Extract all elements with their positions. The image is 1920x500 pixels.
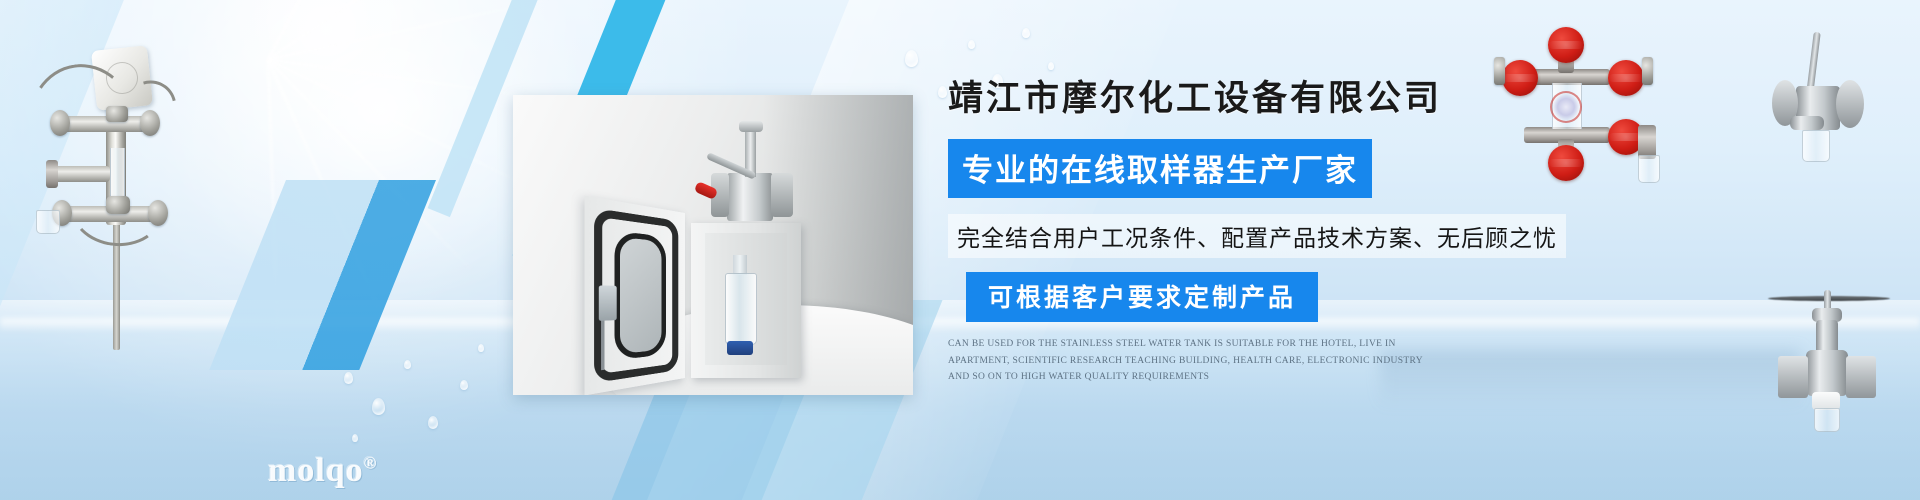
custom-product-badge: 可根据客户要求定制产品: [966, 272, 1318, 322]
sample-bottle: [725, 273, 757, 345]
sample-jar: [1638, 155, 1660, 183]
valve-body: [1806, 350, 1848, 396]
blue-cap: [727, 341, 753, 355]
headline-badge: 专业的在线取样器生产厂家: [948, 139, 1372, 198]
valve-lever: [1806, 32, 1821, 94]
center-product-photo: [513, 95, 913, 395]
discharge-nozzle: [1638, 125, 1656, 159]
flange-icon: [1642, 57, 1653, 85]
valve-knob: [739, 121, 763, 132]
cabinet-door: [585, 196, 685, 395]
relief-valve: [46, 160, 58, 188]
registered-mark-icon: ®: [364, 454, 378, 473]
sample-jar: [36, 210, 60, 234]
sample-jar: [1802, 130, 1830, 162]
watermark-text: molqo: [268, 452, 364, 489]
flange-icon: [1836, 80, 1864, 128]
sampler-valve-assembly: [709, 121, 793, 225]
valve-body: [727, 173, 773, 221]
fine-print: CAN BE USED FOR THE STAINLESS STEEL WATE…: [948, 336, 1438, 386]
sample-bottle-neck: [733, 255, 747, 275]
right-top-valve: [1768, 30, 1888, 160]
flange-icon: [771, 173, 793, 217]
valve-neck: [1816, 320, 1838, 354]
promo-banner: 靖江市摩尔化工设备有限公司 专业的在线取样器生产厂家 完全结合用户工况条件、配置…: [0, 0, 1920, 500]
valve-actuator: [1790, 116, 1824, 130]
flange-icon: [1846, 356, 1876, 398]
watermark-logo: molqo®: [268, 452, 377, 490]
handwheel-icon: [1548, 27, 1584, 63]
flange-icon: [1778, 356, 1808, 398]
right-bottom-valve: [1772, 280, 1890, 430]
door-window: [615, 231, 666, 361]
left-product-illustration: [10, 20, 220, 350]
company-name: 靖江市摩尔化工设备有限公司: [948, 70, 1588, 121]
door-key: [601, 321, 604, 371]
sample-jar: [1814, 408, 1840, 432]
copy-block: 靖江市摩尔化工设备有限公司 专业的在线取样器生产厂家 完全结合用户工况条件、配置…: [948, 70, 1588, 386]
sub-headline: 完全结合用户工况条件、配置产品技术方案、无后顾之忧: [948, 214, 1566, 258]
door-latch: [599, 285, 617, 320]
handwheel-icon: [1608, 60, 1644, 96]
